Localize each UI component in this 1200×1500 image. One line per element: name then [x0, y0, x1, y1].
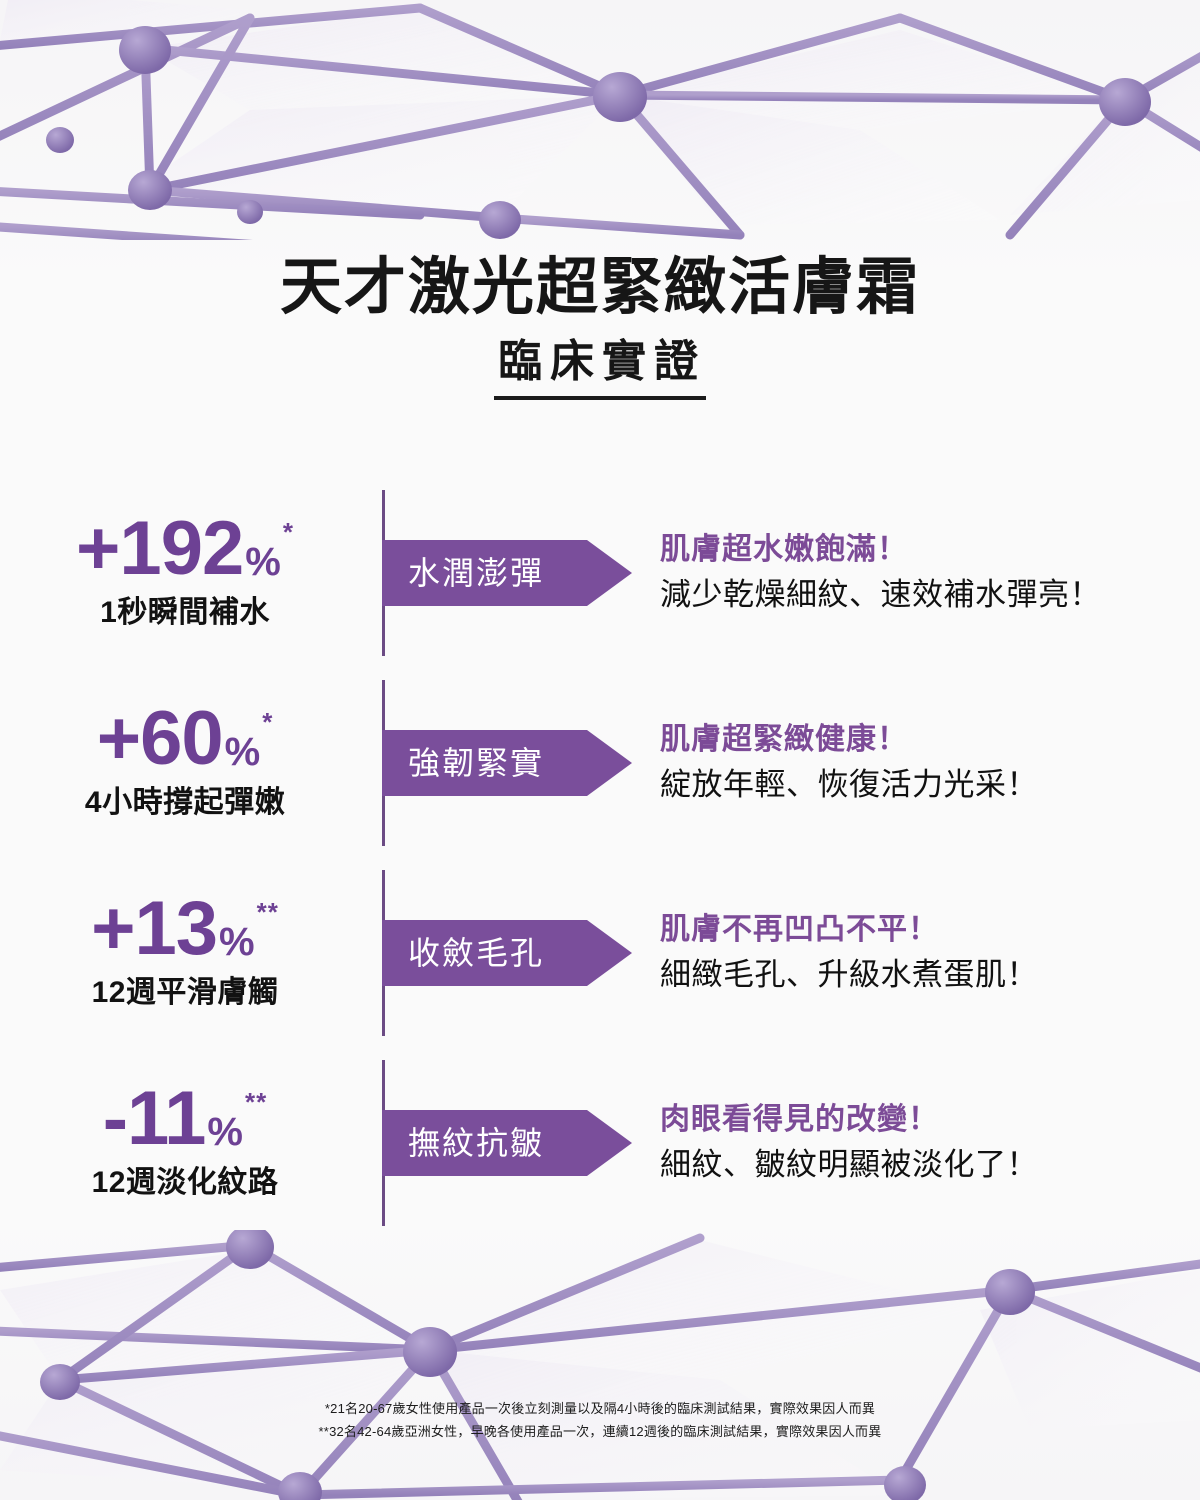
page-subtitle: 臨床實證	[490, 338, 710, 396]
stat-footnote-mark: *	[262, 703, 273, 735]
benefit-detail: 水潤澎彈 肌膚超水嫩飽滿！ 減少乾燥細紋、速效補水彈亮！	[370, 478, 1200, 668]
page-title: 天才激光超緊緻活膚霜	[0, 255, 1200, 322]
stat-percent-sign: %	[219, 922, 255, 966]
mesh-top-svg	[0, 0, 1200, 240]
benefit-subtext: 細緻毛孔、升級水煮蛋肌！	[660, 954, 1200, 996]
benefit-description: 肌膚超水嫩飽滿！ 減少乾燥細紋、速效補水彈亮！	[632, 530, 1200, 616]
stat-footnote-mark: *	[283, 513, 294, 545]
stat-block: +13 % ** 12週平滑膚觸	[0, 858, 370, 1048]
footnotes: *21名20-67歲女性使用產品一次後立刻測量以及隔4小時後的臨床測試結果，實際…	[0, 1398, 1200, 1444]
benefit-banner-label: 強韌緊實	[382, 747, 544, 779]
stat-number-line: -11 % **	[103, 1083, 267, 1155]
benefit-row: -11 % ** 12週淡化紋路 撫紋抗皺 肉眼看得見的改變！ 細紋、皺紋明顯被…	[0, 1048, 1200, 1238]
stat-footnote-mark: **	[245, 1083, 267, 1115]
benefit-banner-label: 水潤澎彈	[382, 557, 544, 589]
footnote-twelve-week: **32名42-64歲亞洲女性，早晚各使用產品一次，連續12週後的臨床測試結果，…	[0, 1421, 1200, 1444]
stat-value: -11	[103, 1083, 206, 1155]
benefit-detail: 撫紋抗皺 肉眼看得見的改變！ 細紋、皺紋明顯被淡化了！	[370, 1048, 1200, 1238]
benefit-banner-label: 收斂毛孔	[382, 937, 544, 969]
stat-caption: 1秒瞬間補水	[100, 596, 270, 629]
stat-value: +60	[97, 703, 223, 775]
infographic-page: 天才激光超緊緻活膚霜 臨床實證 +192 % * 1秒瞬間補水 水潤澎彈	[0, 0, 1200, 1500]
stat-number-line: +60 % *	[97, 703, 274, 775]
molecular-mesh-top-decoration	[0, 0, 1200, 240]
stat-caption: 4小時撐起彈嫩	[85, 786, 285, 819]
stat-number-line: +192 % *	[76, 513, 294, 585]
benefit-description: 肌膚不再凹凸不平！ 細緻毛孔、升級水煮蛋肌！	[632, 910, 1200, 996]
stat-percent-sign: %	[245, 542, 281, 586]
benefit-banner: 強韌緊實	[382, 730, 632, 796]
benefit-banner-label: 撫紋抗皺	[382, 1127, 544, 1159]
stat-caption: 12週平滑膚觸	[92, 976, 279, 1009]
stat-percent-sign: %	[225, 732, 261, 776]
benefit-banner: 撫紋抗皺	[382, 1110, 632, 1176]
molecular-mesh-bottom-decoration	[0, 1230, 1200, 1500]
benefit-subtext: 減少乾燥細紋、速效補水彈亮！	[660, 574, 1200, 616]
footnote-single-use: *21名20-67歲女性使用產品一次後立刻測量以及隔4小時後的臨床測試結果，實際…	[0, 1398, 1200, 1421]
stat-block: -11 % ** 12週淡化紋路	[0, 1048, 370, 1238]
stat-block: +60 % * 4小時撐起彈嫩	[0, 668, 370, 858]
stat-value: +192	[76, 513, 243, 585]
header: 天才激光超緊緻活膚霜 臨床實證	[0, 255, 1200, 400]
stat-footnote-mark: **	[257, 893, 279, 925]
benefit-description: 肌膚超緊緻健康！ 綻放年輕、恢復活力光采！	[632, 720, 1200, 806]
benefit-subtext: 細紋、皺紋明顯被淡化了！	[660, 1144, 1200, 1186]
benefit-row: +60 % * 4小時撐起彈嫩 強韌緊實 肌膚超緊緻健康！ 綻放年輕、恢復活力光…	[0, 668, 1200, 858]
benefit-description: 肉眼看得見的改變！ 細紋、皺紋明顯被淡化了！	[632, 1100, 1200, 1186]
subtitle-block: 臨床實證	[490, 338, 710, 400]
benefit-headline: 肌膚超水嫩飽滿！	[660, 530, 1200, 571]
benefit-headline: 肌膚超緊緻健康！	[660, 720, 1200, 761]
stat-number-line: +13 % **	[91, 893, 279, 965]
benefit-headline: 肌膚不再凹凸不平！	[660, 910, 1200, 951]
benefit-rows: +192 % * 1秒瞬間補水 水潤澎彈 肌膚超水嫩飽滿！ 減少乾燥細紋、速效補…	[0, 478, 1200, 1238]
benefit-headline: 肉眼看得見的改變！	[660, 1100, 1200, 1141]
benefit-row: +13 % ** 12週平滑膚觸 收斂毛孔 肌膚不再凹凸不平！ 細緻毛孔、升級水…	[0, 858, 1200, 1048]
stat-block: +192 % * 1秒瞬間補水	[0, 478, 370, 668]
stat-value: +13	[91, 893, 217, 965]
benefit-subtext: 綻放年輕、恢復活力光采！	[660, 764, 1200, 806]
stat-caption: 12週淡化紋路	[92, 1166, 279, 1199]
subtitle-underline	[494, 396, 706, 400]
benefit-row: +192 % * 1秒瞬間補水 水潤澎彈 肌膚超水嫩飽滿！ 減少乾燥細紋、速效補…	[0, 478, 1200, 668]
benefit-banner: 水潤澎彈	[382, 540, 632, 606]
mesh-bottom-svg	[0, 1230, 1200, 1500]
benefit-detail: 強韌緊實 肌膚超緊緻健康！ 綻放年輕、恢復活力光采！	[370, 668, 1200, 858]
stat-percent-sign: %	[207, 1112, 243, 1156]
benefit-banner: 收斂毛孔	[382, 920, 632, 986]
benefit-detail: 收斂毛孔 肌膚不再凹凸不平！ 細緻毛孔、升級水煮蛋肌！	[370, 858, 1200, 1048]
